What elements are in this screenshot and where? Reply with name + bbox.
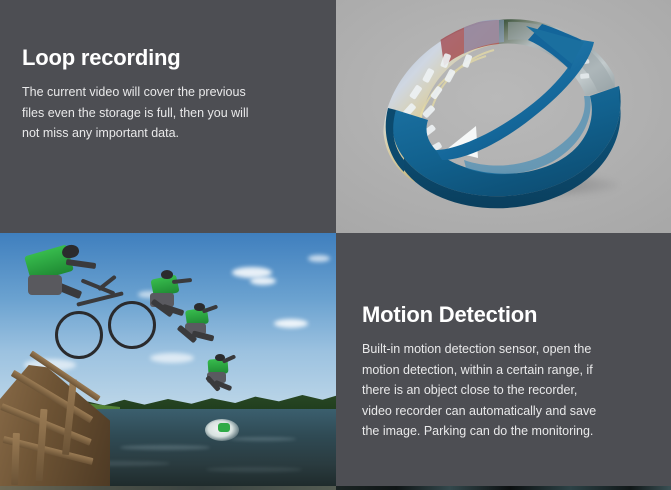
loop-ring-image: Blue 3D looping arrow ring filled with h… — [336, 0, 671, 233]
water-ripple-3 — [230, 437, 296, 441]
loop-recording-body-line-1: The current video will cover the previou… — [22, 82, 318, 103]
bmx-jump-image: Time-lapse sequence of a BMX rider launc… — [0, 233, 336, 486]
next-section-sliver-left — [0, 486, 336, 490]
loop-ring-vector — [336, 0, 671, 233]
motion-detection-heading: Motion Detection — [362, 303, 662, 326]
motion-detection-body-line-1: Built-in motion detection sensor, open t… — [362, 339, 662, 360]
panel-loop-graphic: Blue 3D looping arrow ring filled with h… — [336, 0, 671, 233]
cloud-2 — [250, 277, 276, 285]
rider-2-helmet — [161, 270, 173, 279]
water-ripple-5 — [206, 467, 302, 472]
next-section-sliver-right — [336, 486, 671, 490]
cloud-5 — [150, 353, 194, 363]
motion-detection-body: Built-in motion detection sensor, open t… — [362, 339, 662, 442]
rider-1-rear-wheel — [55, 311, 103, 359]
loop-recording-heading: Loop recording — [22, 46, 318, 69]
rider-1-front-wheel — [108, 301, 156, 349]
motion-detection-body-line-2: motion detection, within a certain range… — [362, 360, 662, 381]
cloud-7 — [308, 255, 330, 262]
rider-1-shorts — [28, 275, 62, 295]
feature-panel-page: Loop recording The current video will co… — [0, 0, 671, 490]
splash-rider-jersey — [218, 423, 230, 432]
cloud-3 — [274, 319, 308, 328]
loop-recording-body: The current video will cover the previou… — [22, 82, 318, 144]
water-ripple-2 — [120, 445, 210, 450]
panel-bmx-photo: Time-lapse sequence of a BMX rider launc… — [0, 233, 336, 486]
motion-detection-body-line-5: the image. Parking can do the monitoring… — [362, 421, 662, 442]
motion-detection-text-block: Motion Detection Built-in motion detecti… — [362, 303, 662, 442]
next-section-sliver: Top edge sliver of the next section belo… — [0, 486, 671, 490]
loop-recording-body-line-2: files even the storage is full, then you… — [22, 103, 318, 124]
panel-motion-detection: Motion Detection Built-in motion detecti… — [336, 233, 671, 486]
traffic-photo-cool-blur — [464, 20, 504, 54]
panel-loop-recording: Loop recording The current video will co… — [0, 0, 336, 233]
motion-detection-body-line-4: video recorder can automatically and sav… — [362, 401, 662, 422]
loop-recording-text-block: Loop recording The current video will co… — [22, 46, 318, 144]
motion-detection-body-line-3: there is an object close to the recorder… — [362, 380, 662, 401]
loop-recording-body-line-3: not miss any important data. — [22, 123, 318, 144]
